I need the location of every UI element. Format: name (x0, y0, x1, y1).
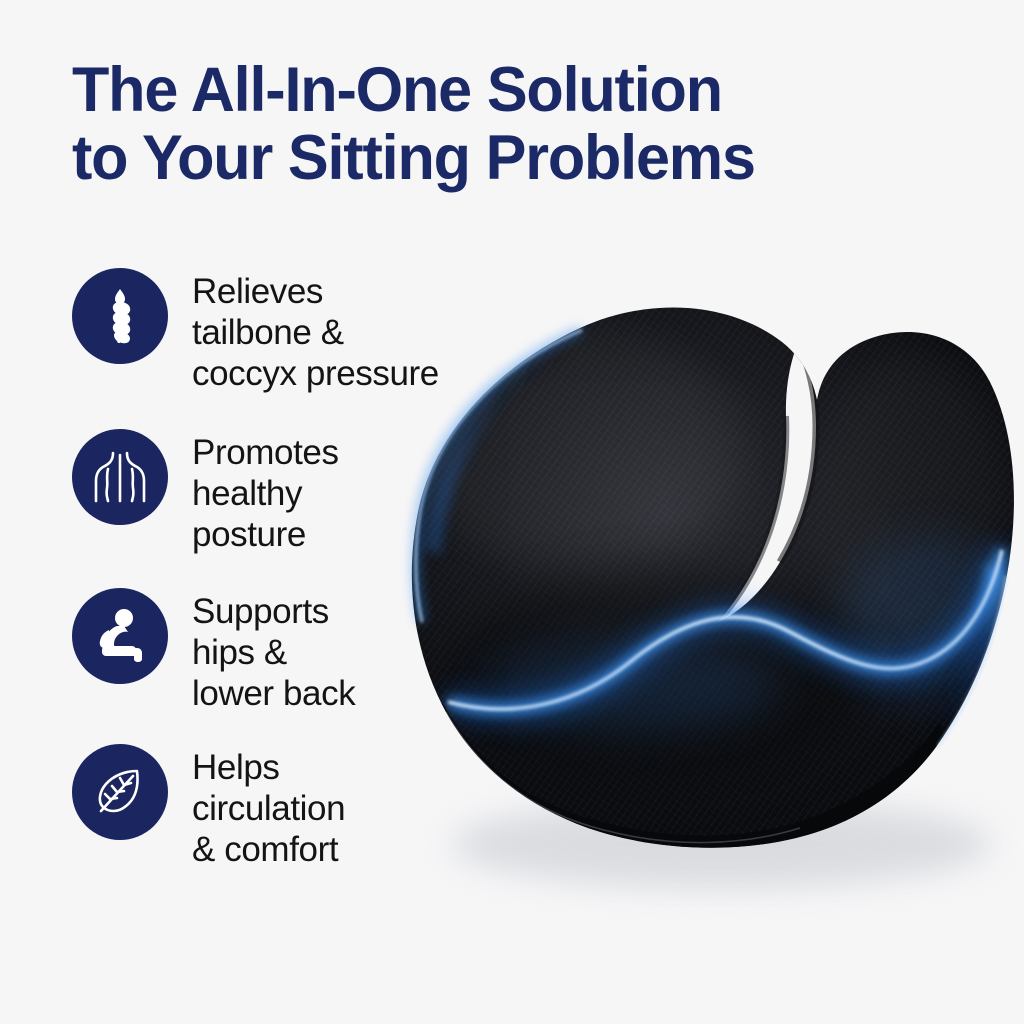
feature-list: Relieves tailbone & coccyx pressure (72, 268, 542, 871)
seated-person-icon (91, 608, 149, 664)
feature-label: Promotes healthy posture (192, 429, 339, 556)
feature-icon-badge (72, 429, 168, 525)
feature-item-tailbone: Relieves tailbone & coccyx pressure (72, 268, 542, 395)
headline-line-2: to Your Sitting Problems (72, 124, 945, 192)
feature-icon-badge (72, 268, 168, 364)
feature-label: Helps circulation & comfort (192, 744, 345, 871)
headline-line-1: The All-In-One Solution (72, 55, 722, 125)
leaf-icon (93, 765, 147, 819)
feature-icon-badge (72, 588, 168, 684)
feature-item-circulation: Helps circulation & comfort (72, 744, 542, 871)
page-title: The All-In-One Solution to Your Sitting … (72, 56, 945, 192)
feature-label: Relieves tailbone & coccyx pressure (192, 268, 439, 395)
posture-back-icon (91, 449, 149, 505)
spine-icon (94, 287, 146, 345)
feature-item-hips: Supports hips & lower back (72, 588, 542, 715)
feature-item-posture: Promotes healthy posture (72, 429, 542, 556)
feature-label: Supports hips & lower back (192, 588, 355, 715)
feature-icon-badge (72, 744, 168, 840)
